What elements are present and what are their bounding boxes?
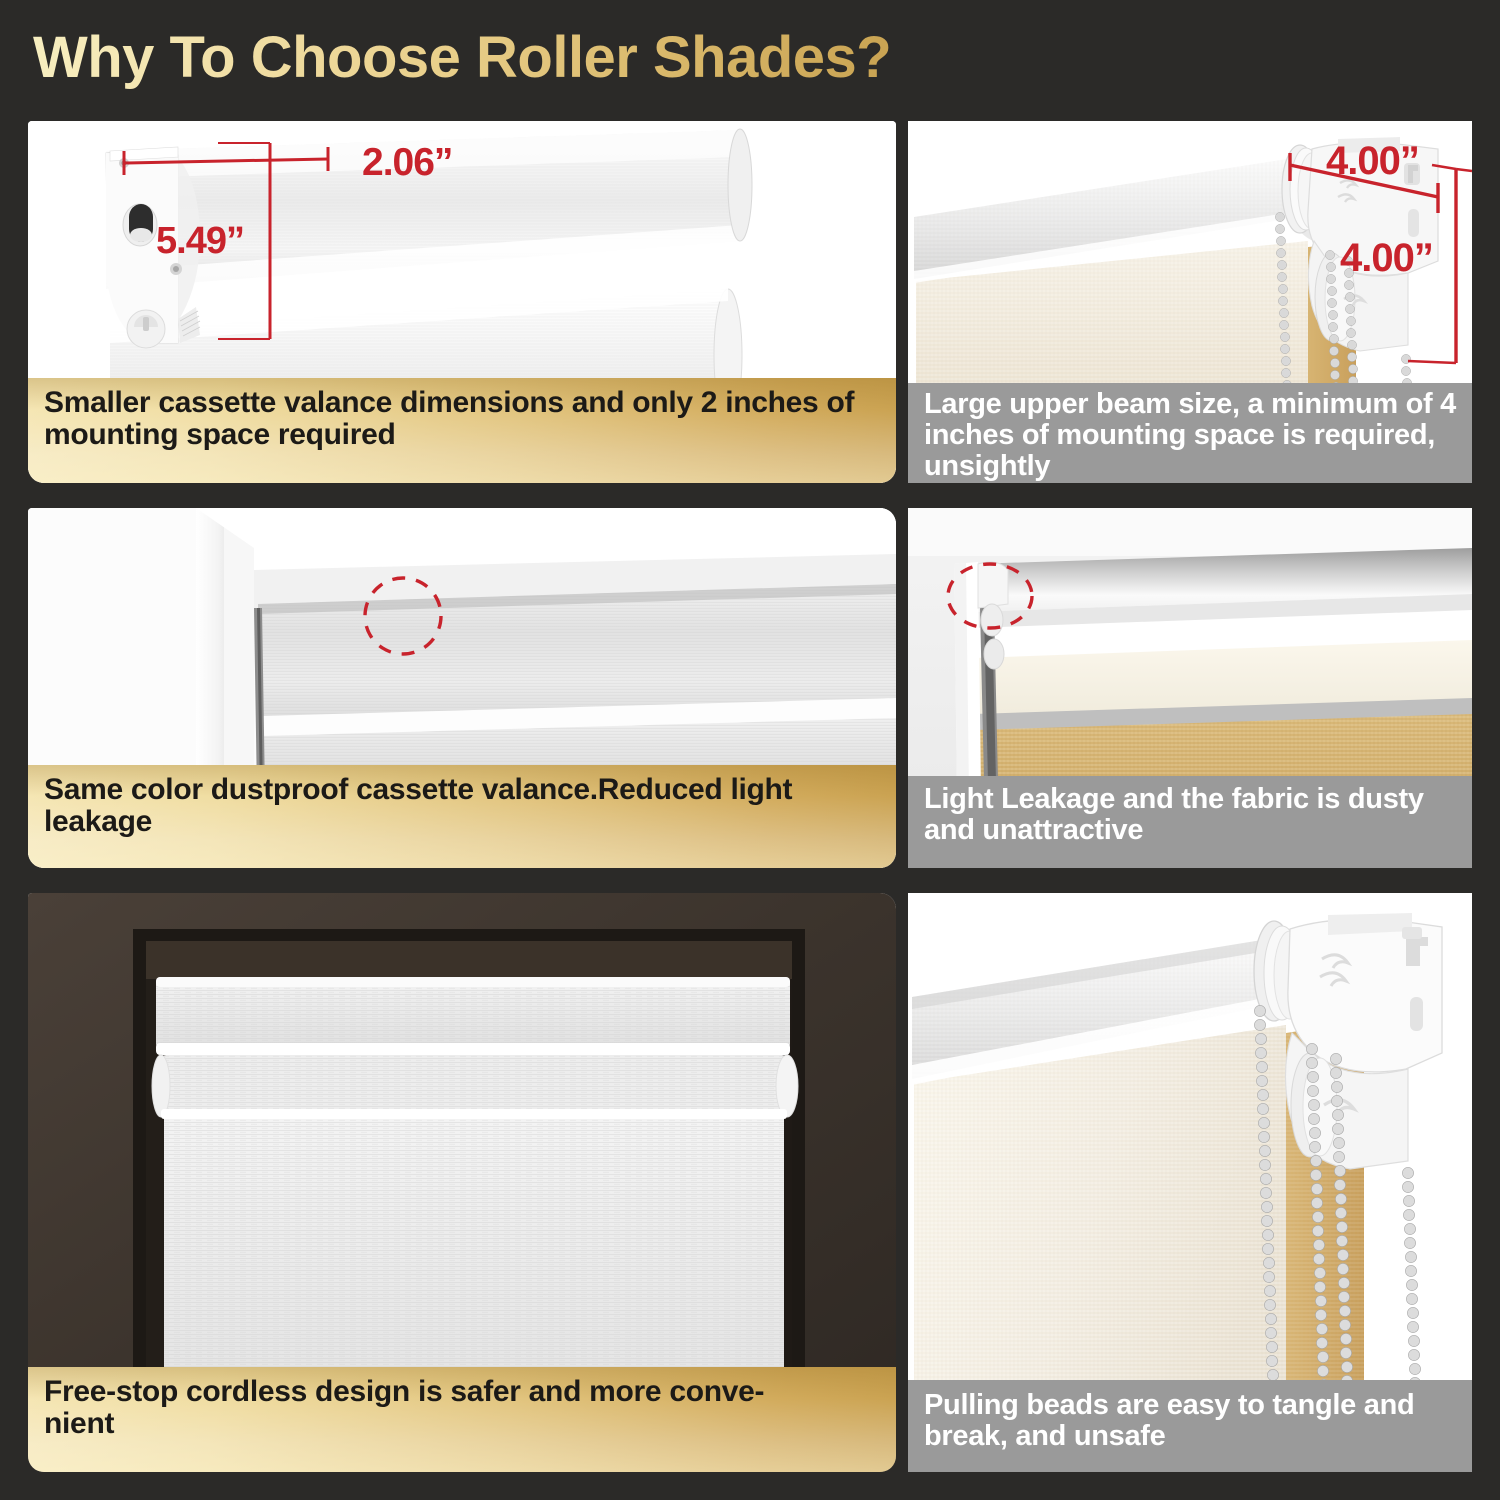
caption-bottom-right: Pulling beads are easy to tangle and bre… bbox=[908, 1380, 1472, 1472]
dimension-label-width-206: 2.06” bbox=[362, 141, 452, 185]
panel-bottom-left: Free-stop cordless design is safer and m… bbox=[28, 893, 896, 1472]
caption-bottom-left-text: Free-stop cordless design is safer and m… bbox=[44, 1376, 882, 1440]
panel-bottom-right: Pulling beads are easy to tangle and bre… bbox=[908, 893, 1472, 1472]
dimension-label-height-549: 5.49” bbox=[156, 220, 244, 263]
caption-top-right: Large upper beam size, a minimum of 4 in… bbox=[908, 383, 1472, 483]
caption-middle-left: Same color dustproof cassette valance.Re… bbox=[28, 765, 896, 868]
caption-top-left: Smaller cassette valance dimensions and … bbox=[28, 378, 896, 483]
dimension-label-height-400: 4.00” bbox=[1340, 236, 1433, 281]
dimension-label-width-400: 4.00” bbox=[1326, 139, 1419, 184]
caption-bottom-right-text: Pulling beads are easy to tangle and bre… bbox=[924, 1389, 1414, 1452]
panel-top-right: 4.00” 4.00” Large upper beam size, a min… bbox=[908, 121, 1472, 483]
caption-middle-right: Light Leakage and the fabric is dusty an… bbox=[908, 776, 1472, 868]
panel-top-left: 2.06” 5.49” Smaller cassette valance dim… bbox=[28, 121, 896, 483]
caption-middle-left-text: Same color dustproof cassette valance.Re… bbox=[44, 774, 882, 838]
page-title: Why To Choose Roller Shades? bbox=[33, 24, 891, 91]
panel-middle-right: Large gap Light Leakage and the fabric i… bbox=[908, 508, 1472, 868]
caption-top-right-text: Large upper beam size, a minimum of 4 in… bbox=[924, 388, 1456, 482]
caption-middle-right-text: Light Leakage and the fabric is dusty an… bbox=[924, 783, 1424, 846]
infographic-root: Why To Choose Roller Shades? bbox=[0, 0, 1500, 1500]
panel-middle-left: smaller gap Same color dustproof cassett… bbox=[28, 508, 896, 868]
caption-bottom-left: Free-stop cordless design is safer and m… bbox=[28, 1367, 896, 1472]
caption-top-left-text: Smaller cassette valance dimensions and … bbox=[44, 387, 882, 451]
